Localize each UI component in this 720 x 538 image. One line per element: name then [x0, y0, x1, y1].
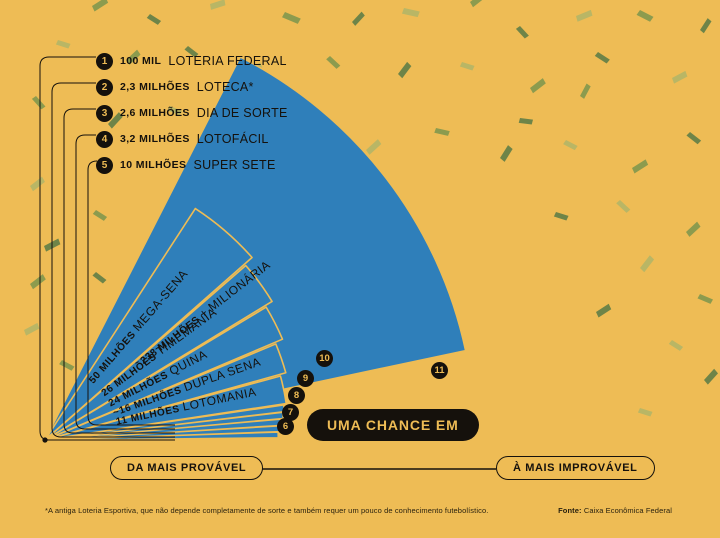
wedge-badge-7[interactable]: 7	[282, 404, 299, 421]
legend-name: LOTERIA FEDERAL	[168, 54, 286, 68]
source-label: Fonte:	[558, 506, 582, 515]
axis-label-most-probable: DA MAIS PROVÁVEL	[110, 456, 263, 480]
legend-badge-1: 1	[96, 53, 113, 70]
legend-amount: 2,6 MILHÕES	[120, 107, 190, 119]
legend-item: 22,3 MILHÕESLOTECA*	[96, 74, 288, 100]
axis-label-most-improbable: À MAIS IMPROVÁVEL	[496, 456, 655, 480]
legend-name: DIA DE SORTE	[197, 106, 288, 120]
legend-amount: 10 MILHÕES	[120, 159, 186, 171]
legend-item: 32,6 MILHÕESDIA DE SORTE	[96, 100, 288, 126]
wedge-badge-8[interactable]: 8	[288, 387, 305, 404]
legend-amount: 3,2 MILHÕES	[120, 133, 190, 145]
source-credit: Fonte: Caixa Econômica Federal	[558, 506, 672, 515]
legend-badge-2: 2	[96, 79, 113, 96]
wedge-badge-10[interactable]: 10	[316, 350, 333, 367]
infographic-canvas: 11 MILHÕES LOTOMANIA~16 MILHÕES DUPLA SE…	[0, 0, 720, 538]
legend-item: 510 MILHÕESSUPER SETE	[96, 152, 288, 178]
legend-item: 1100 MILLOTERIA FEDERAL	[96, 48, 288, 74]
legend-amount: 100 MIL	[120, 55, 161, 67]
legend-name: LOTECA*	[197, 80, 254, 94]
legend-badge-3: 3	[96, 105, 113, 122]
legend-name: LOTOFÁCIL	[197, 132, 269, 146]
source-value: Caixa Econômica Federal	[584, 506, 672, 515]
footnote-text: *A antiga Loteria Esportiva, que não dep…	[45, 506, 488, 515]
legend-name: SUPER SETE	[193, 158, 275, 172]
wedge-badge-9[interactable]: 9	[297, 370, 314, 387]
wedge-badge-11[interactable]: 11	[431, 362, 448, 379]
legend-badge-4: 4	[96, 131, 113, 148]
legend-amount: 2,3 MILHÕES	[120, 81, 190, 93]
legend-item: 43,2 MILHÕESLOTOFÁCIL	[96, 126, 288, 152]
legend-badge-5: 5	[96, 157, 113, 174]
legend-list: 1100 MILLOTERIA FEDERAL22,3 MILHÕESLOTEC…	[96, 48, 288, 178]
center-label-pill: UMA CHANCE EM	[307, 409, 479, 441]
